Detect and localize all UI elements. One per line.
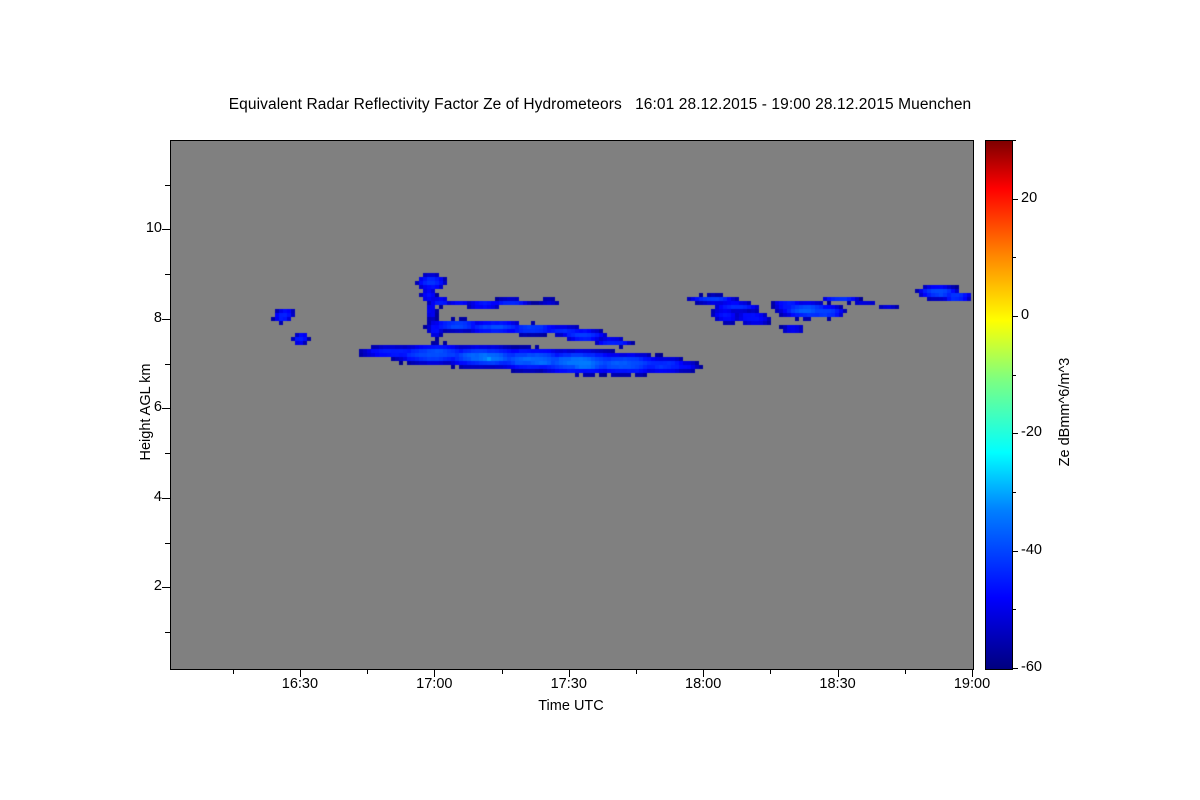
x-tick-label: 18:30 (798, 676, 878, 692)
heatmap-plot-area (170, 140, 974, 670)
colorbar-tick (1012, 668, 1018, 669)
x-tick-label: 17:30 (529, 676, 609, 692)
colorbar-minor-tick (1012, 609, 1016, 610)
x-minor-tick (770, 669, 771, 674)
y-minor-tick (165, 274, 170, 275)
y-axis-title: Height AGL km (138, 262, 154, 562)
figure-canvas: Equivalent Radar Reflectivity Factor Ze … (0, 0, 1200, 800)
y-tick-label: 2 (102, 578, 162, 594)
colorbar-tick (1012, 199, 1018, 200)
x-minor-tick (636, 669, 637, 674)
y-tick-label: 10 (102, 220, 162, 236)
y-minor-tick (165, 453, 170, 454)
x-tick-label: 19:00 (932, 676, 1012, 692)
heatmap-canvas (171, 141, 973, 669)
y-tick (162, 498, 170, 499)
x-tick-label: 18:00 (663, 676, 743, 692)
y-minor-tick (165, 364, 170, 365)
x-minor-tick (502, 669, 503, 674)
x-minor-tick (233, 669, 234, 674)
y-tick (162, 408, 170, 409)
y-tick (162, 587, 170, 588)
colorbar-minor-tick (1012, 140, 1016, 141)
colorbar-tick-label: -20 (1021, 424, 1042, 440)
x-minor-tick (367, 669, 368, 674)
colorbar-tick (1012, 316, 1018, 317)
colorbar-minor-tick (1012, 492, 1016, 493)
colorbar (985, 140, 1013, 670)
x-axis-title: Time UTC (170, 698, 972, 714)
x-tick-label: 17:00 (394, 676, 474, 692)
colorbar-tick-label: 0 (1021, 307, 1029, 323)
y-tick (162, 229, 170, 230)
y-minor-tick (165, 632, 170, 633)
x-tick-label: 16:30 (260, 676, 340, 692)
colorbar-tick (1012, 433, 1018, 434)
y-tick (162, 319, 170, 320)
colorbar-title: Ze dBmm^6/m^3 (1057, 262, 1073, 562)
colorbar-tick-label: -60 (1021, 659, 1042, 675)
colorbar-tick-label: -40 (1021, 542, 1042, 558)
y-minor-tick (165, 543, 170, 544)
y-minor-tick (165, 185, 170, 186)
colorbar-tick-label: 20 (1021, 190, 1037, 206)
colorbar-minor-tick (1012, 257, 1016, 258)
chart-title: Equivalent Radar Reflectivity Factor Ze … (0, 96, 1200, 114)
x-minor-tick (905, 669, 906, 674)
colorbar-minor-tick (1012, 375, 1016, 376)
colorbar-tick (1012, 551, 1018, 552)
